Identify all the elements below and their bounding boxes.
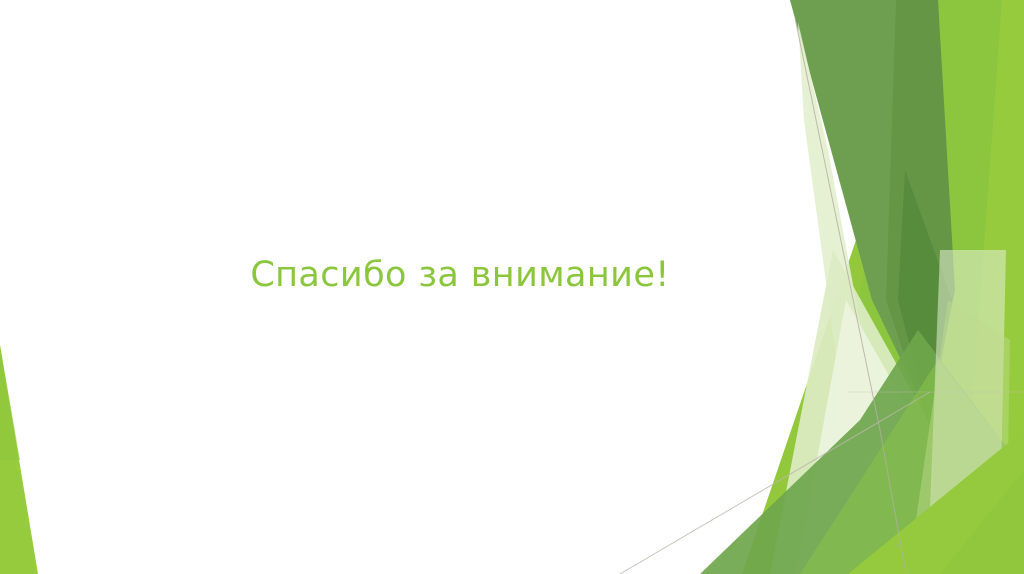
poly-pale-sliver-upper: [798, 22, 880, 430]
poly-bright-bottom-corner: [848, 430, 1024, 574]
poly-light-sweep-overlay: [800, 360, 1024, 574]
poly-dark-ribbon-main: [790, 0, 952, 420]
poly-pale-large-lower: [770, 250, 940, 574]
poly-soft-wedge-midright: [908, 300, 1010, 574]
poly-bottom-right-crease: [940, 470, 1024, 574]
poly-deep-green-spike: [898, 170, 952, 424]
poly-medium-green-sweep: [700, 330, 1024, 574]
slide-title-block: Спасибо за внимание!: [0, 256, 920, 295]
hairline-long-to-left: [620, 392, 930, 574]
hairline-diagonal-lower: [880, 430, 906, 574]
poly-bottom-left-wedge-shade: [0, 345, 20, 460]
hairline-diagonal-upper: [795, 18, 880, 430]
poly-lightest-overlay: [796, 300, 920, 574]
poly-dark-ribbon-inner: [886, 0, 955, 425]
poly-far-right-wedge: [960, 0, 1024, 574]
page-title: Спасибо за внимание!: [250, 256, 669, 295]
poly-pale-panel-right: [928, 250, 1006, 560]
poly-bottom-left-wedge: [0, 345, 38, 574]
slide-canvas: Спасибо за внимание!: [0, 0, 1024, 574]
